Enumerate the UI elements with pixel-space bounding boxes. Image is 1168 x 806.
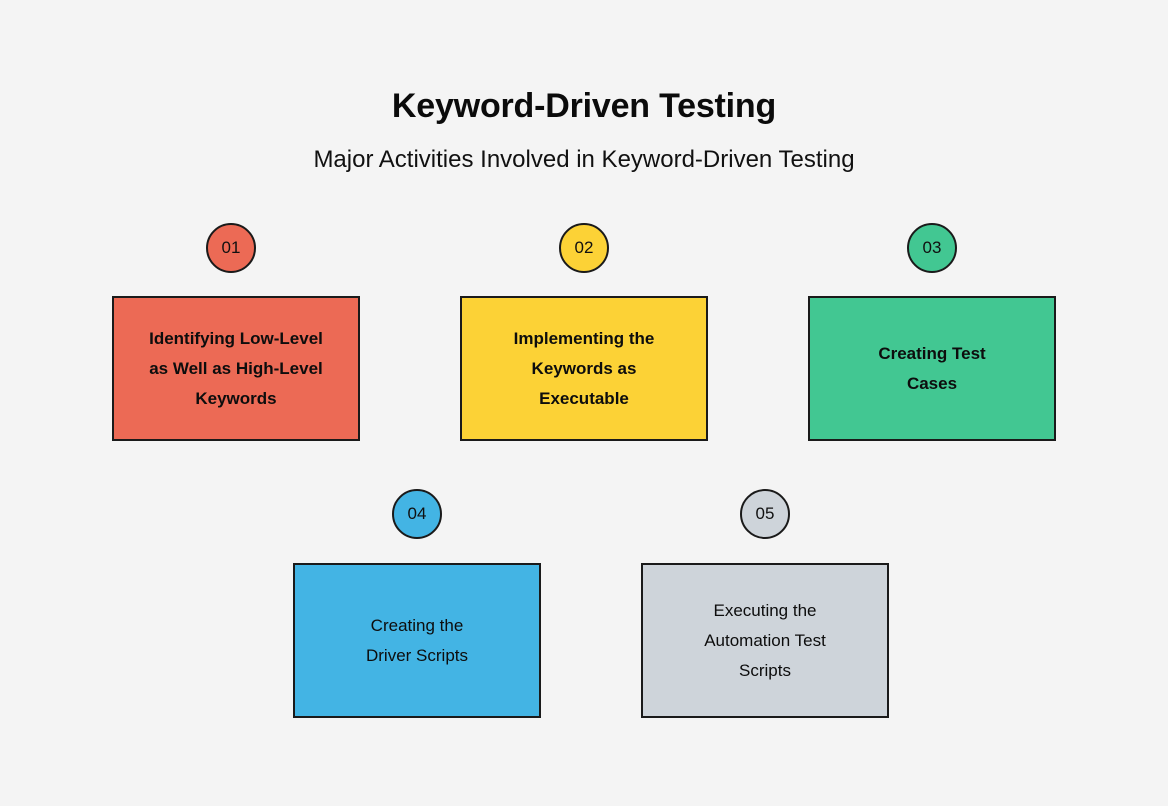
step-card-03[interactable]: Creating Test Cases (808, 296, 1056, 441)
infographic-canvas: Keyword-Driven Testing Major Activities … (0, 0, 1168, 806)
step-number-badge-02[interactable]: 02 (559, 223, 609, 273)
page-title: Keyword-Driven Testing (0, 84, 1168, 128)
step-card-05[interactable]: Executing the Automation Test Scripts (641, 563, 889, 718)
step-card-text-04: Creating the Driver Scripts (366, 611, 468, 671)
step-card-text-01: Identifying Low-Level as Well as High-Le… (149, 324, 323, 414)
step-number-label-03: 03 (923, 238, 942, 258)
step-card-text-03: Creating Test Cases (878, 339, 985, 399)
step-card-text-02: Implementing the Keywords as Executable (514, 324, 655, 414)
step-card-02[interactable]: Implementing the Keywords as Executable (460, 296, 708, 441)
step-number-label-01: 01 (222, 238, 241, 258)
step-number-label-02: 02 (575, 238, 594, 258)
step-number-label-04: 04 (408, 504, 427, 524)
step-card-01[interactable]: Identifying Low-Level as Well as High-Le… (112, 296, 360, 441)
step-card-text-05: Executing the Automation Test Scripts (704, 596, 826, 686)
step-card-04[interactable]: Creating the Driver Scripts (293, 563, 541, 718)
step-number-badge-05[interactable]: 05 (740, 489, 790, 539)
step-number-badge-03[interactable]: 03 (907, 223, 957, 273)
step-number-badge-01[interactable]: 01 (206, 223, 256, 273)
page-subtitle: Major Activities Involved in Keyword-Dri… (0, 144, 1168, 176)
step-number-label-05: 05 (756, 504, 775, 524)
step-number-badge-04[interactable]: 04 (392, 489, 442, 539)
